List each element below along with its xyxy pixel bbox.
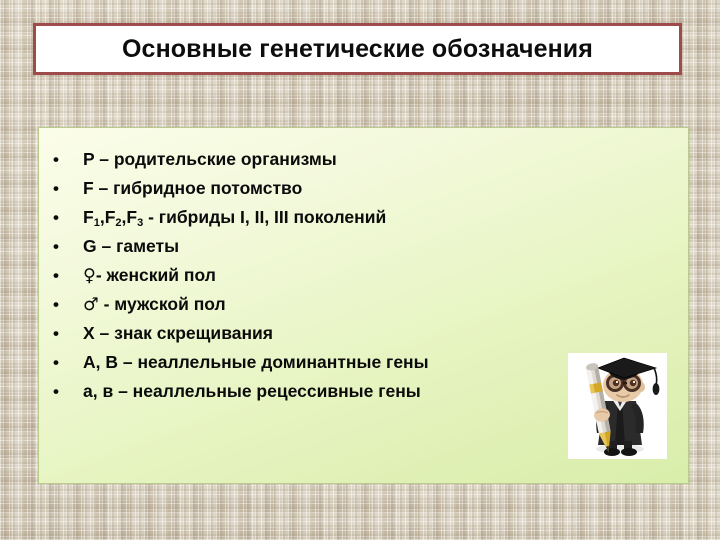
list-item-text: G – гаметы <box>83 236 179 256</box>
list-item: P – родительские организмы <box>53 145 678 174</box>
subscript-3: 3 <box>137 217 143 229</box>
list-item: F1,F2,F3 - гибриды I, II, III поколений <box>53 203 678 232</box>
list-item: F – гибридное потомство <box>53 174 678 203</box>
graduate-cartoon-icon <box>568 353 667 459</box>
subscript-1: 1 <box>94 217 100 229</box>
list-item-description: женский пол <box>107 265 216 285</box>
list-item-text: - <box>104 294 110 314</box>
list-item-symbol-f2: F <box>105 207 116 227</box>
list-item-text: F – гибридное потомство <box>83 178 302 198</box>
list-item: G – гаметы <box>53 232 678 261</box>
list-item-description: мужской пол <box>114 294 225 314</box>
venus-icon: ♀ <box>83 266 96 286</box>
graduate-image <box>568 353 667 459</box>
slide-canvas: Основные генетические обозначения P – ро… <box>0 0 720 540</box>
subscript-2: 2 <box>115 217 121 229</box>
list-item: X – знак скрещивания <box>53 319 678 348</box>
mars-icon: ♂ <box>83 295 99 315</box>
list-item-symbol-f3: F <box>126 207 137 227</box>
list-item-text: A, B – неаллельные доминантные гены <box>83 352 429 372</box>
list-item-text: а, в – неаллельные рецессивные гены <box>83 381 421 401</box>
list-item-text: P – родительские организмы <box>83 149 337 169</box>
slide-title-box: Основные генетические обозначения <box>33 23 682 75</box>
list-item: ♀- женский пол <box>53 261 678 290</box>
list-item-symbol-f1: F <box>83 207 94 227</box>
list-item-text: - <box>96 265 102 285</box>
list-item: ♂ - мужской пол <box>53 290 678 319</box>
list-item-text: - гибриды I, II, III поколений <box>143 207 386 227</box>
page-title: Основные генетические обозначения <box>122 35 593 64</box>
list-item-text: X – знак скрещивания <box>83 323 273 343</box>
content-panel: P – родительские организмы F – гибридное… <box>38 127 689 484</box>
